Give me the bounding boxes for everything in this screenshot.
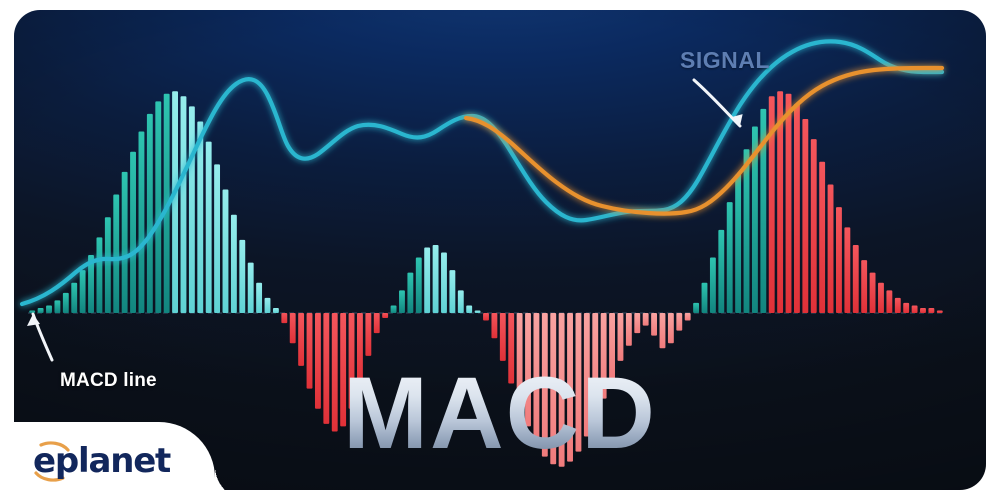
histogram-bar [96,237,102,313]
histogram-bar [38,308,44,313]
histogram-bar [920,308,926,313]
histogram-bar [618,313,624,361]
histogram-bar [113,195,119,313]
macd-infographic: SIGNAL MACD line MACD eplanet [0,0,1000,500]
histogram-bar [399,290,405,313]
histogram-bar [281,313,287,323]
histogram-bar [811,139,817,313]
histogram-bar [139,132,145,313]
histogram-bar [878,283,884,313]
histogram-bar [130,152,136,313]
histogram-bar [576,313,582,452]
histogram-bar [508,313,514,384]
histogram-bar [819,162,825,313]
histogram-bar [886,290,892,313]
histogram-bar [340,313,346,426]
histogram-bar [912,305,918,313]
histogram-bar [181,96,187,313]
histogram-bar [592,313,598,419]
histogram-bar [584,313,590,436]
histogram-bars [29,91,942,466]
histogram-bar [735,174,741,313]
histogram-bar [802,119,808,313]
histogram-bar [349,313,355,409]
histogram-bar [861,260,867,313]
histogram-bar [786,94,792,313]
histogram-bar [895,298,901,313]
histogram-bar [290,313,296,343]
histogram-bar [54,300,60,313]
histogram-bar [307,313,313,389]
histogram-bar [223,190,229,313]
histogram-bar [206,142,212,313]
histogram-bar [685,313,691,321]
histogram-bar [718,230,724,313]
histogram-bar [273,308,279,313]
histogram-bar [248,263,254,313]
histogram-bar [483,313,489,321]
histogram-bar [500,313,506,361]
histogram-bar [315,313,321,409]
histogram-bar [660,313,666,348]
histogram-bar [491,313,497,338]
histogram-bar [517,313,523,406]
histogram-bar [374,313,380,333]
histogram-bar [668,313,674,343]
histogram-bar [458,290,464,313]
histogram-bar [609,313,615,379]
histogram-bar [214,164,220,313]
histogram-bar [172,91,178,313]
histogram-bar [449,270,455,313]
histogram-bar [533,313,539,444]
histogram-bar [189,106,195,313]
chart-panel: SIGNAL MACD line MACD [14,10,986,490]
histogram-bar [239,240,245,313]
histogram-bar [424,247,430,313]
histogram-bar [365,313,371,356]
histogram-bar [382,313,388,318]
histogram-bar [29,310,35,313]
eplanet-logo[interactable]: eplanet [26,440,201,482]
histogram-bar [323,313,329,424]
histogram-bar [155,101,161,313]
histogram-bar [63,293,69,313]
histogram-bar [298,313,304,366]
histogram-bar [853,245,859,313]
histogram-bar [693,303,699,313]
logo-wordmark: eplanet [33,441,170,481]
histogram-bar [903,303,909,313]
histogram-bar [441,253,447,313]
histogram-bar [466,305,472,313]
macd-line-arrow-icon [27,314,52,360]
histogram-bar [525,313,531,426]
histogram-bar [46,305,52,313]
histogram-bar [391,305,397,313]
histogram-bar [626,313,632,346]
histogram-bar [416,258,422,313]
histogram-bar [105,217,111,313]
histogram-bar [122,172,128,313]
histogram-bar [836,207,842,313]
histogram-bar [265,298,271,313]
histogram-bar [147,114,153,313]
histogram-bar [870,273,876,313]
signal-arrow-icon [694,80,744,126]
histogram-bar [80,270,86,313]
histogram-bar [197,121,203,313]
histogram-bar [744,149,750,313]
histogram-bar [407,273,413,313]
histogram-bar [676,313,682,331]
histogram-bar [727,202,733,313]
histogram-bar [702,283,708,313]
histogram-bar [256,283,262,313]
histogram-bar [844,227,850,313]
histogram-bar [828,184,834,313]
histogram-bar [643,313,649,326]
macd-chart [14,10,986,490]
histogram-bar [231,215,237,313]
histogram-bar [71,283,77,313]
histogram-bar [928,308,934,313]
histogram-bar [559,313,565,467]
histogram-bar [475,310,481,313]
histogram-bar [794,104,800,313]
histogram-bar [601,313,607,399]
histogram-bar [357,313,363,384]
histogram-bar [567,313,573,462]
histogram-bar [542,313,548,457]
histogram-bar [634,313,640,333]
histogram-bar [651,313,657,336]
histogram-bar [433,245,439,313]
histogram-bar [332,313,338,431]
histogram-bar [550,313,556,464]
histogram-bar [710,258,716,313]
histogram-bar [937,310,943,313]
